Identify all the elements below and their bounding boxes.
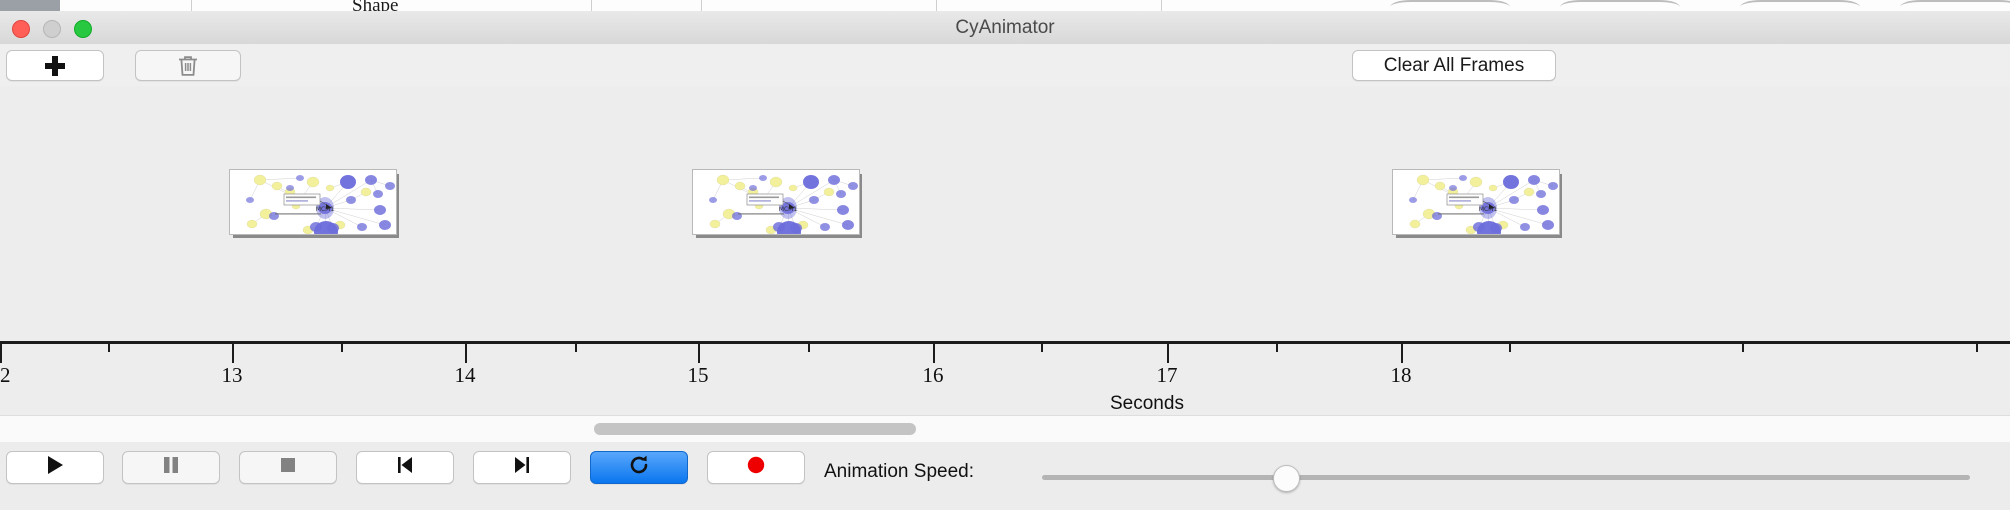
transport-bar: Animation Speed: xyxy=(0,442,2010,510)
ruler-minor-tick xyxy=(1276,341,1278,352)
stop-icon xyxy=(277,454,299,481)
frame-toolbar: Clear All Frames xyxy=(0,44,2010,87)
frame-thumbnail[interactable]: MCM1 xyxy=(229,169,397,235)
frame-thumbnail[interactable]: MCM1 xyxy=(692,169,860,235)
svg-text:MCM1: MCM1 xyxy=(1479,206,1498,213)
timeline-scrollbar-thumb[interactable] xyxy=(594,423,916,435)
record-icon xyxy=(745,454,767,481)
svg-text:MCM1: MCM1 xyxy=(779,206,798,213)
loop-button[interactable] xyxy=(590,451,688,484)
time-ruler[interactable]: Seconds 12131415161718 xyxy=(0,327,2010,415)
ruler-tick-label: 13 xyxy=(222,363,243,388)
animation-speed-slider-thumb[interactable] xyxy=(1273,465,1300,492)
ruler-major-tick xyxy=(465,341,467,363)
record-button[interactable] xyxy=(707,451,805,484)
ruler-tick-label: 14 xyxy=(455,363,476,388)
ruler-minor-tick xyxy=(1041,341,1043,352)
ruler-baseline xyxy=(0,341,2010,344)
prev-frame-button[interactable] xyxy=(356,451,454,484)
clear-all-frames-label: Clear All Frames xyxy=(1384,55,1524,77)
ruler-major-tick xyxy=(232,341,234,363)
ruler-minor-tick xyxy=(108,341,110,352)
ruler-major-tick xyxy=(0,341,2,363)
plus-icon xyxy=(45,56,65,76)
loop-icon xyxy=(627,453,651,482)
ruler-tick-label: 18 xyxy=(1391,363,1412,388)
svg-text:MCM1: MCM1 xyxy=(316,206,335,213)
pause-icon xyxy=(160,454,182,481)
pause-button[interactable] xyxy=(122,451,220,484)
ruler-major-tick xyxy=(698,341,700,363)
add-frame-button[interactable] xyxy=(6,50,104,81)
skip-start-icon xyxy=(394,454,416,481)
ruler-major-tick xyxy=(1401,341,1403,363)
ruler-tick-label: 12 xyxy=(0,363,11,388)
ruler-minor-tick xyxy=(1976,341,1978,352)
ruler-minor-tick xyxy=(575,341,577,352)
ruler-major-tick xyxy=(1167,341,1169,363)
play-button[interactable] xyxy=(6,451,104,484)
animation-speed-slider-track[interactable] xyxy=(1042,475,1970,480)
stop-button[interactable] xyxy=(239,451,337,484)
window-title: CyAnimator xyxy=(0,11,2010,44)
timeline-scrollbar[interactable] xyxy=(0,415,2010,443)
cyanimator-window: Shape CyAnimator Clear All Frames MCM1MC xyxy=(0,0,2010,510)
ruler-tick-label: 16 xyxy=(923,363,944,388)
animation-speed-label: Animation Speed: xyxy=(824,461,974,483)
ruler-major-tick xyxy=(933,341,935,363)
clear-all-frames-button[interactable]: Clear All Frames xyxy=(1352,50,1556,81)
play-icon xyxy=(44,454,66,481)
skip-end-icon xyxy=(511,454,533,481)
ruler-minor-tick xyxy=(1509,341,1511,352)
ruler-minor-tick xyxy=(808,341,810,352)
ruler-tick-label: 17 xyxy=(1157,363,1178,388)
delete-frame-button[interactable] xyxy=(135,50,241,81)
ruler-axis-title: Seconds xyxy=(1110,393,1184,415)
frame-thumbnail[interactable]: MCM1 xyxy=(1392,169,1560,235)
timeline-frames-panel[interactable]: MCM1MCM1MCM1 xyxy=(0,86,2010,329)
ruler-minor-tick xyxy=(1742,341,1744,352)
next-frame-button[interactable] xyxy=(473,451,571,484)
ruler-tick-label: 15 xyxy=(688,363,709,388)
trash-icon xyxy=(176,53,200,79)
title-bar: CyAnimator xyxy=(0,11,2010,45)
ruler-minor-tick xyxy=(341,341,343,352)
